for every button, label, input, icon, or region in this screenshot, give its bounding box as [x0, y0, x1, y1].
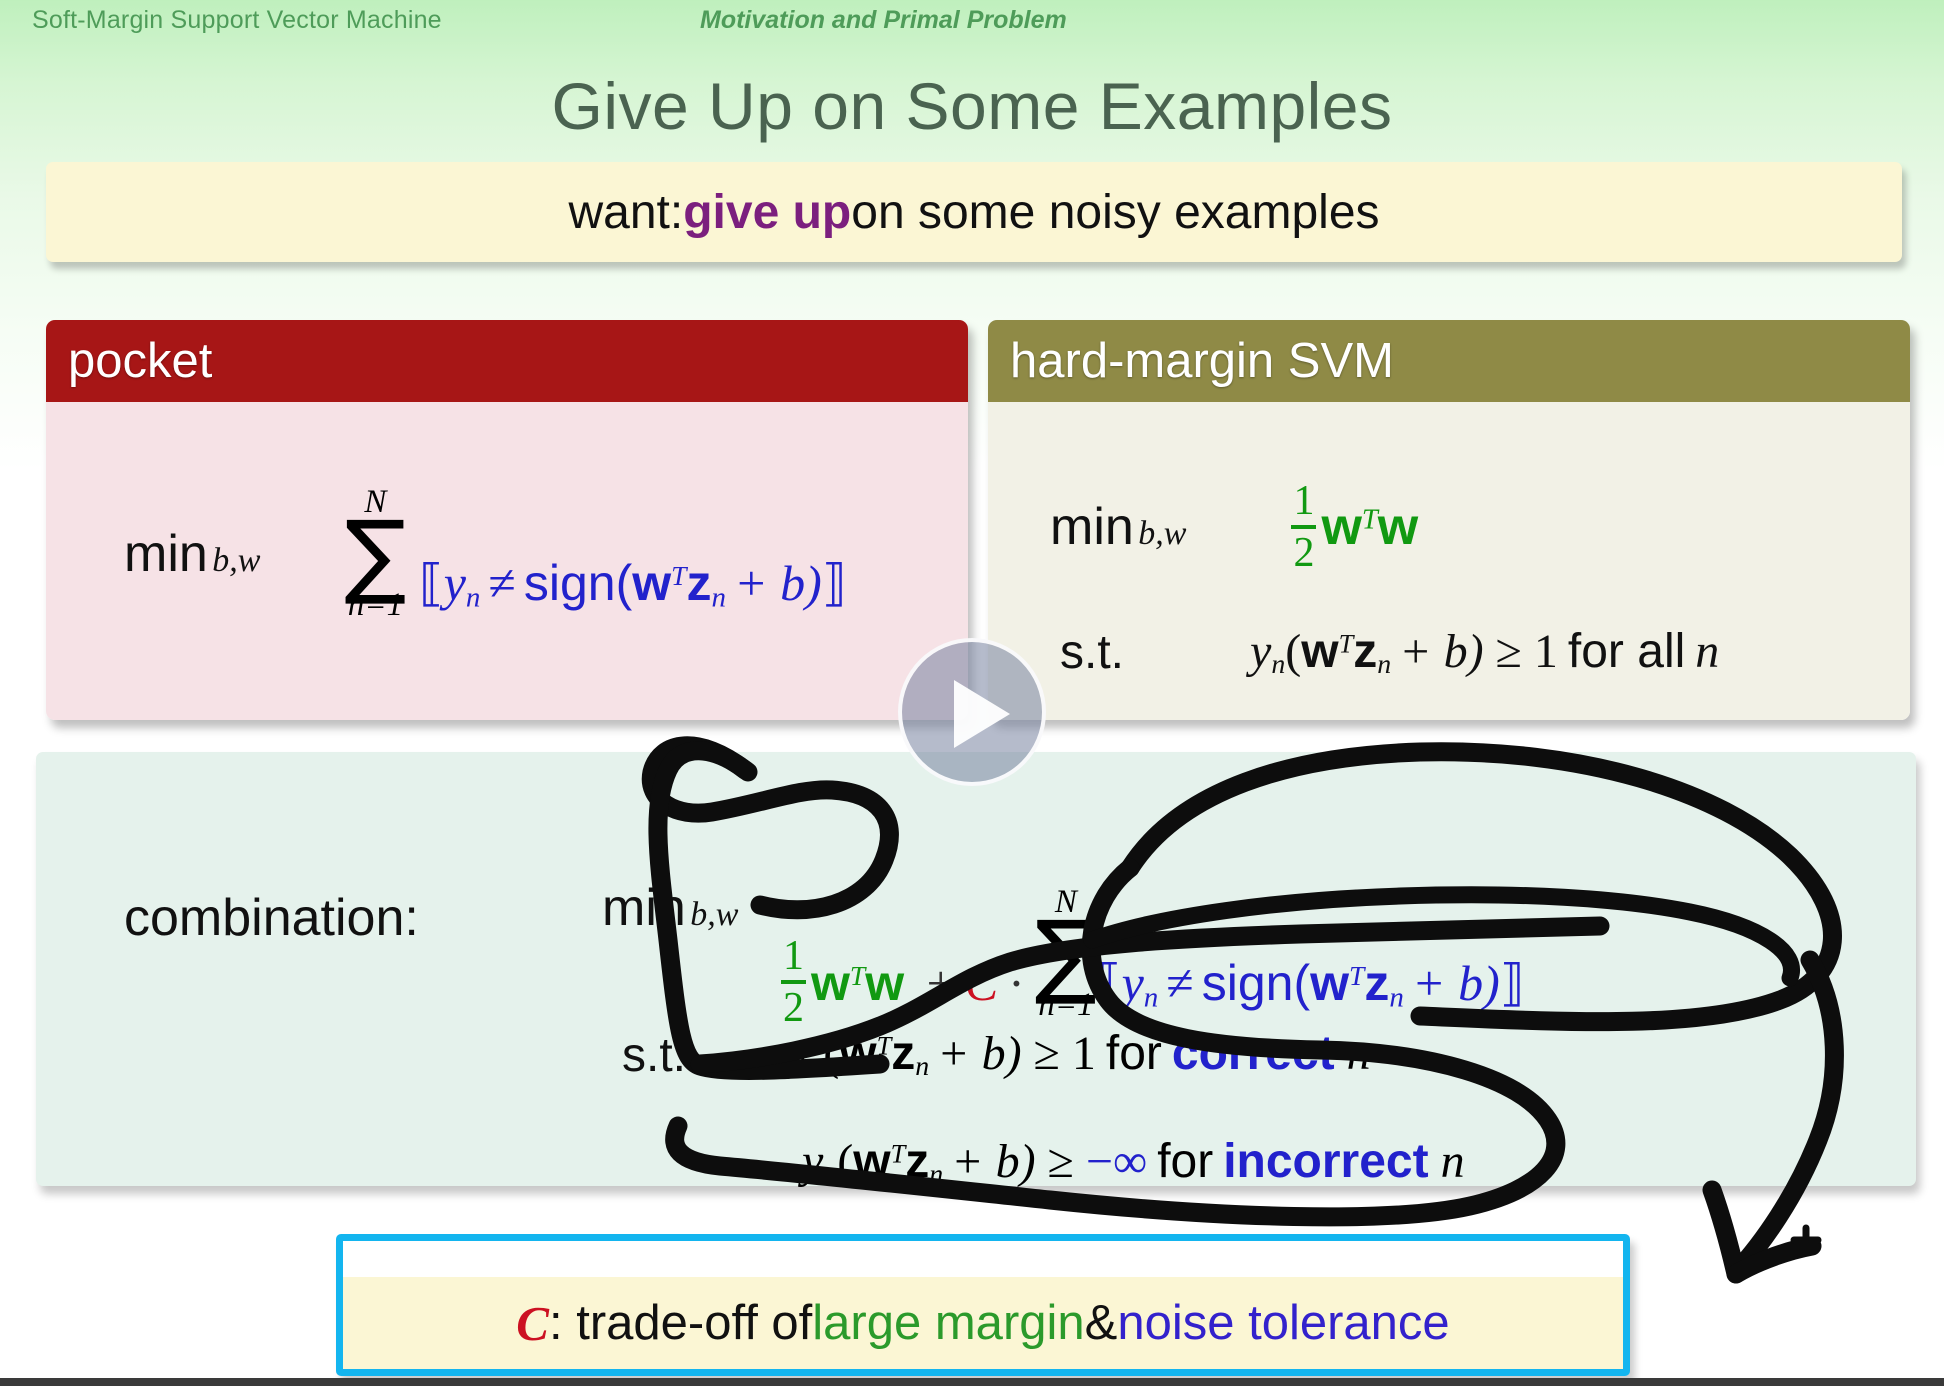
c1-transpose: T [877, 1030, 892, 1060]
c1-y-subscript: n [809, 1051, 823, 1082]
hard-margin-objective-row: min b,w 1 2 wTw [1050, 480, 1418, 574]
c1-correct: correct [1172, 1027, 1335, 1080]
pocket-z-subscript: n [711, 581, 726, 613]
combination-label: combination: [124, 888, 419, 948]
hard-constraint: yn(wTzn+ b)≥1for alln [1250, 624, 1719, 681]
hard-min-operator: min b,w [1050, 501, 1186, 553]
header-course-title: Soft-Margin Support Vector Machine [32, 6, 442, 35]
c2-w: w [853, 1135, 890, 1188]
pocket-min-operator: min b,w [124, 528, 260, 580]
combination-indicator-expression: ⟦yn≠sign(wTzn+ b)⟧ [1097, 955, 1525, 1011]
callout-noise-tolerance: noise tolerance [1117, 1295, 1449, 1351]
hard-for-all: for all [1568, 625, 1685, 678]
c1-geq: ≥ [1034, 1027, 1060, 1080]
pocket-summation: N ∑ n=1 [344, 486, 406, 622]
c1-w: w [839, 1027, 876, 1080]
combination-constraint-incorrect: yn(wTzn+ b)≥−∞forincorrectn [802, 1134, 1465, 1191]
fraction-bar [781, 980, 806, 984]
hard-min-subscript: b,w [1138, 515, 1186, 552]
hard-w-right: w [1378, 498, 1418, 556]
callout-inner: C: trade-off of large margin & noise tol… [343, 1277, 1623, 1369]
pocket-plus-b: + b) [734, 555, 822, 611]
fraction-bar [1291, 525, 1316, 529]
pocket-sum-lower: n=1 [344, 589, 406, 622]
c2-z: z [905, 1135, 929, 1188]
callout-amp: & [1085, 1295, 1118, 1351]
callout-C: C [516, 1295, 549, 1352]
pocket-y-subscript: n [466, 581, 481, 613]
play-triangle-icon [954, 680, 1010, 748]
combination-indicator-plus-b: + b) [1412, 955, 1500, 1011]
play-button[interactable] [898, 638, 1046, 786]
hard-margin-constraint-row: s.t. yn(wTzn+ b)≥1for alln [1060, 624, 1719, 681]
hard-y-subscript: n [1271, 649, 1285, 680]
ink-tick-mark [1794, 1228, 1818, 1252]
c1-one: 1 [1072, 1027, 1096, 1080]
combination-indicator-w: w [1310, 955, 1349, 1011]
combination-panel: combination: min b,w 1 2 wTw +C· N ∑ n=1… [36, 752, 1916, 1186]
hard-n: n [1695, 625, 1719, 678]
hard-constraint-z-subscript: n [1377, 649, 1391, 680]
combination-y-subscript: n [1144, 981, 1159, 1013]
want-prefix: want: [568, 185, 683, 240]
want-banner: want: give up on some noisy examples [46, 162, 1902, 262]
pocket-formula-row: min b,w N ∑ n=1 ⟦yn≠sign(wTzn+ b)⟧ [124, 486, 847, 622]
header-section-title: Motivation and Primal Problem [700, 6, 1067, 35]
hard-min-label: min [1050, 498, 1134, 556]
pocket-objective: N ∑ n=1 ⟦yn≠sign(wTzn+ b)⟧ [344, 486, 846, 622]
combination-frac-denominator: 2 [779, 987, 808, 1029]
pocket-sign-function: sign( [524, 555, 632, 611]
hard-geq: ≥ [1496, 625, 1522, 678]
pocket-min-label: min [124, 525, 208, 583]
combination-w-left: w [811, 955, 850, 1011]
hard-frac-denominator: 2 [1289, 532, 1318, 574]
combination-indicator-z: z [1364, 955, 1389, 1011]
pocket-min-subscript: b,w [212, 542, 260, 579]
slide-header: Soft-Margin Support Vector Machine Motiv… [0, 4, 1944, 42]
hard-one: 1 [1534, 625, 1558, 678]
c2-n: n [1441, 1135, 1465, 1188]
hard-constraint-w: w [1301, 625, 1338, 678]
c1-z: z [891, 1027, 915, 1080]
combination-objective: 1 2 wTw +C· N ∑ n=1 ⟦yn≠sign(wTzn+ b)⟧ [776, 886, 1524, 1029]
page-title: Give Up on Some Examples [0, 68, 1944, 144]
c2-transpose: T [891, 1138, 906, 1168]
c2-geq: ≥ [1048, 1135, 1074, 1188]
combination-sign-function: sign( [1202, 955, 1310, 1011]
pocket-neq: ≠ [488, 555, 515, 611]
hard-constraint-z: z [1353, 625, 1377, 678]
c1-for: for [1106, 1027, 1162, 1080]
combination-min-subscript: b,w [690, 896, 738, 933]
slide-canvas: Soft-Margin Support Vector Machine Motiv… [0, 0, 1944, 1386]
hard-constraint-plus-b: + b) [1399, 625, 1483, 678]
pocket-bracket-open: ⟦ [419, 555, 444, 611]
c2-z-subscript: n [929, 1159, 943, 1190]
want-suffix: on some noisy examples [851, 185, 1379, 240]
pocket-z: z [686, 555, 711, 611]
hard-w-left: w [1321, 498, 1361, 556]
combination-frac-numerator: 1 [779, 935, 808, 977]
c1-z-subscript: n [915, 1051, 929, 1082]
c2-incorrect: incorrect [1223, 1135, 1428, 1188]
combination-dot: · [1008, 955, 1025, 1011]
callout-box: C: trade-off of large margin & noise tol… [336, 1234, 1630, 1376]
combination-sum-lower: n=1 [1035, 989, 1097, 1022]
hard-st-label: s.t. [1060, 625, 1250, 680]
bottom-bar [0, 1378, 1944, 1386]
pocket-y: y [444, 555, 466, 611]
callout-colon-text: : trade-off of [549, 1295, 812, 1351]
combination-y: y [1122, 955, 1144, 1011]
combination-bracket-open: ⟦ [1097, 955, 1122, 1011]
pocket-w: w [632, 555, 671, 611]
hard-frac-numerator: 1 [1289, 480, 1318, 522]
c2-y: y [802, 1135, 823, 1188]
hard-transpose: T [1362, 504, 1378, 535]
hard-margin-panel: hard-margin SVM min b,w 1 2 wTw s.t. yn(… [988, 320, 1910, 720]
combination-summation: N ∑ n=1 [1035, 886, 1097, 1022]
c2-paren-open: ( [837, 1135, 853, 1188]
combination-half-fraction: 1 2 [779, 935, 808, 1029]
combination-neq: ≠ [1166, 955, 1193, 1011]
c1-plus-b: + b) [937, 1027, 1021, 1080]
c2-neg-infinity: −∞ [1086, 1135, 1147, 1188]
hard-y: y [1250, 625, 1271, 678]
c2-y-subscript: n [823, 1159, 837, 1190]
hard-half-fraction: 1 2 [1289, 480, 1318, 574]
callout-large-margin: large margin [812, 1295, 1084, 1351]
combination-constraint-correct: yn(wTzn+ b)≥1forcorrectn [788, 1026, 1371, 1083]
hard-paren-open: ( [1285, 625, 1301, 678]
ink-arrow-head-upper [1712, 1190, 1736, 1274]
c2-for: for [1157, 1135, 1213, 1188]
pocket-bracket-close: ⟧ [822, 555, 847, 611]
combination-plus: + [927, 955, 955, 1011]
combination-min-operator: min b,w [602, 882, 738, 934]
hard-margin-panel-heading: hard-margin SVM [988, 320, 1910, 402]
hard-margin-panel-body: min b,w 1 2 wTw s.t. yn(wTzn+ b)≥1for al… [988, 402, 1910, 720]
ink-arrow-head-lower [1736, 1246, 1812, 1274]
combination-indicator-transpose: T [1349, 960, 1364, 991]
combination-st-label: s.t. [622, 1028, 686, 1083]
combination-transpose: T [850, 960, 865, 991]
combination-indicator-z-subscript: n [1389, 981, 1404, 1013]
pocket-indicator-expression: ⟦yn≠sign(wTzn+ b)⟧ [419, 555, 847, 611]
c1-n: n [1347, 1027, 1371, 1080]
combination-bracket-close: ⟧ [1500, 955, 1525, 1011]
pocket-panel-heading: pocket [46, 320, 968, 402]
c1-y: y [788, 1027, 809, 1080]
want-emphasis: give up [683, 185, 851, 240]
hard-constraint-transpose: T [1339, 628, 1354, 658]
c1-paren-open: ( [823, 1027, 839, 1080]
c2-plus-b: + b) [951, 1135, 1035, 1188]
combination-margin-term: 1 2 wTw [776, 955, 917, 1011]
combination-w-right: w [865, 955, 904, 1011]
combination-min-label: min [602, 879, 686, 937]
hard-objective: 1 2 wTw [1286, 480, 1418, 574]
pocket-panel-body: min b,w N ∑ n=1 ⟦yn≠sign(wTzn+ b)⟧ [46, 402, 968, 720]
pocket-transpose: T [671, 560, 686, 591]
pocket-panel: pocket min b,w N ∑ n=1 ⟦yn≠sign(wTzn+ b)… [46, 320, 968, 720]
combination-C: C [965, 955, 998, 1011]
